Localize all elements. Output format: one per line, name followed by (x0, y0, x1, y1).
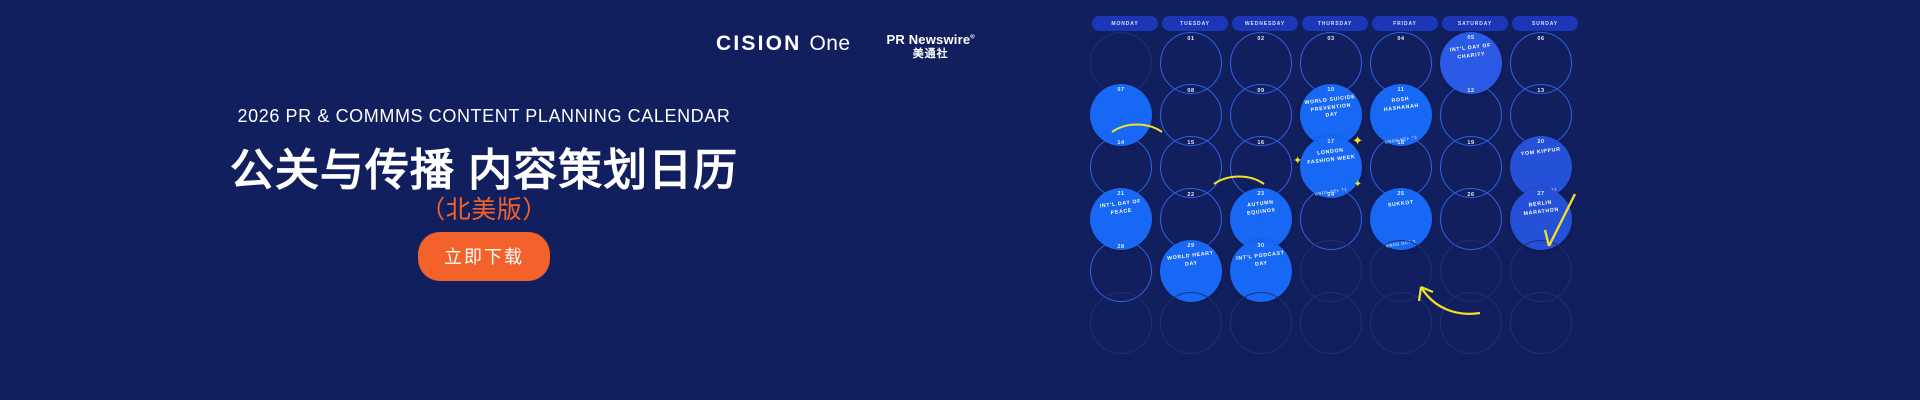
day-number: 28 (1117, 245, 1124, 251)
pr-newswire-logo: PR Newswire® 美通社 (886, 32, 974, 61)
weekday-pill: WEDNESDAY (1232, 16, 1298, 31)
day-number: 07 (1117, 88, 1124, 94)
logo-group: CISION One PR Newswire® 美通社 (716, 32, 975, 61)
day-number: 08 (1187, 89, 1194, 95)
calendar-graphic: MONDAYTUESDAYWEDNESDAYTHURSDAYFRIDAYSATU… (1090, 0, 1590, 400)
day-number: 06 (1537, 37, 1544, 43)
event-label: YOM KIPPUR (1516, 145, 1566, 159)
pr-newswire-name: PR Newswire (886, 32, 970, 47)
registered-trademark-icon: ® (970, 35, 975, 41)
weekday-pill: TUESDAY (1162, 16, 1228, 31)
day-number: 23 (1257, 192, 1264, 198)
weekday-pill: SUNDAY (1512, 16, 1578, 31)
day-number: 01 (1187, 37, 1194, 43)
weekday-pill: MONDAY (1092, 16, 1158, 31)
day-number: 29 (1187, 244, 1194, 250)
pr-newswire-chinese-name: 美通社 (913, 48, 949, 61)
banner-content: CISION One PR Newswire® 美通社 2026 PR & CO… (0, 0, 1090, 400)
event-label: AUTUMN EQUINOX (1229, 197, 1292, 220)
calendar-day (1090, 292, 1152, 354)
weekday-pill: FRIDAY (1372, 16, 1438, 31)
day-number: 18 (1397, 141, 1404, 147)
day-number: 04 (1397, 37, 1404, 43)
calendar-day (1370, 292, 1432, 354)
cision-one-logo: CISION One (716, 32, 850, 56)
day-number: 25 (1397, 192, 1404, 198)
eyebrow-text: 2026 PR & COMMMS CONTENT PLANNING CALEND… (0, 106, 1090, 127)
download-now-button[interactable]: 立即下载 (418, 232, 550, 281)
calendar-grid: 0102030405INT'L DAY OF CHARITY0607080910… (1090, 32, 1580, 344)
day-number: 14 (1117, 141, 1124, 147)
day-number: 30 (1257, 244, 1264, 250)
event-label: LONDON FASHION WEEK (1299, 145, 1362, 168)
weekday-pill: SATURDAY (1442, 16, 1508, 31)
calendar-day (1160, 292, 1222, 354)
day-number: 27 (1537, 192, 1544, 198)
day-number: 17 (1327, 140, 1334, 146)
promo-banner: CISION One PR Newswire® 美通社 2026 PR & CO… (0, 0, 1920, 400)
day-number: 12 (1467, 89, 1474, 95)
weekday-pill: THURSDAY (1302, 16, 1368, 31)
day-number: 21 (1117, 192, 1124, 198)
event-label: INT'L DAY OF PEACE (1090, 197, 1153, 220)
page-title: 公关与传播 内容策划日历 (0, 134, 1090, 198)
day-number: 22 (1187, 193, 1194, 199)
pr-newswire-wordmark: PR Newswire® (886, 33, 974, 48)
event-label: WORLD HEART DAY (1159, 249, 1222, 272)
calendar-day (1230, 292, 1292, 354)
day-number: 13 (1537, 89, 1544, 95)
event-label: ROSH HASHANAH (1369, 93, 1432, 116)
day-number: 15 (1187, 141, 1194, 147)
day-number: 26 (1467, 193, 1474, 199)
day-number: 09 (1257, 89, 1264, 95)
edition-subtitle: （北美版） (0, 190, 1090, 226)
day-number: 02 (1257, 37, 1264, 43)
day-number: 16 (1257, 141, 1264, 147)
calendar-day (1510, 292, 1572, 354)
day-number: 20 (1537, 140, 1544, 146)
event-label: BERLIN MARATHON (1509, 197, 1572, 220)
day-number: 19 (1467, 141, 1474, 147)
cta-container: 立即下载 (0, 232, 1090, 281)
event-label: SUKKOT (1383, 198, 1420, 210)
event-label: WORLD SUICIDE PREVENTION DAY (1299, 93, 1363, 123)
event-label: INT'L DAY OF CHARITY (1439, 41, 1502, 64)
calendar-day (1440, 292, 1502, 354)
day-number: 24 (1327, 193, 1334, 199)
day-number: 10 (1327, 88, 1334, 94)
weekday-header-row: MONDAYTUESDAYWEDNESDAYTHURSDAYFRIDAYSATU… (1090, 16, 1578, 31)
event-label: INT'L PODCAST DAY (1229, 249, 1292, 272)
cision-one-suffix: One (810, 32, 851, 56)
day-number: 03 (1327, 37, 1334, 43)
day-number: 11 (1397, 88, 1404, 94)
calendar-day (1300, 292, 1362, 354)
day-number: 05 (1467, 36, 1474, 42)
cision-wordmark: CISION (716, 32, 802, 56)
